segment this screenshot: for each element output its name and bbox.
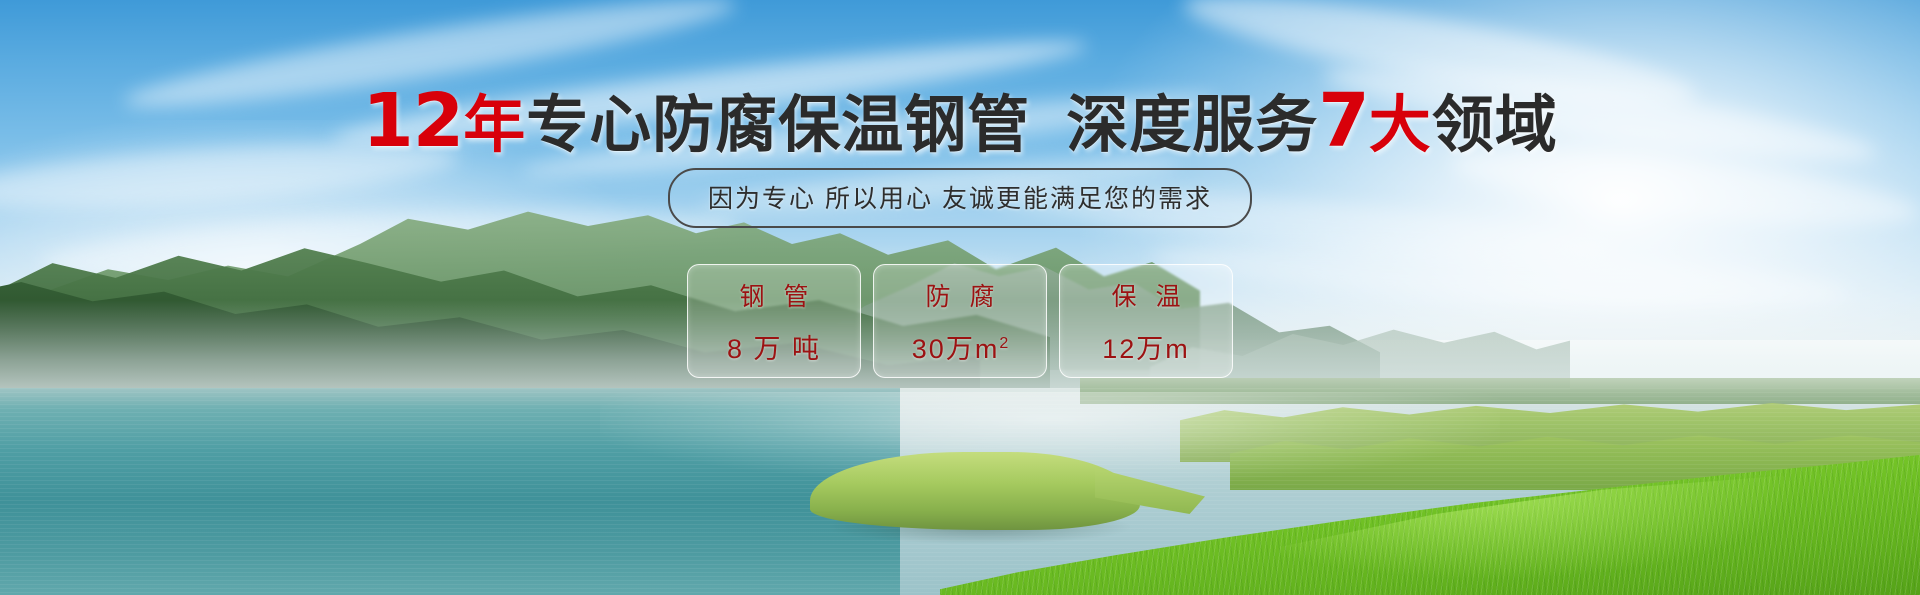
headline-years-number: 12 — [362, 78, 463, 164]
stat-card-value: 12万m — [1102, 327, 1190, 366]
stat-card-list: 钢 管 8 万 吨 防 腐 30万m2 保 温 12万m — [0, 264, 1920, 378]
stat-card-value-text: 30万m — [912, 334, 1000, 364]
promo-banner: 12年专心防腐保温钢管深度服务7大领域 因为专心 所以用心 友诚更能满足您的需求… — [0, 0, 1920, 595]
banner-content: 12年专心防腐保温钢管深度服务7大领域 因为专心 所以用心 友诚更能满足您的需求… — [0, 0, 1920, 595]
headline-service-text: 深度服务 — [1066, 91, 1318, 160]
stat-card-value-text: 8 万 吨 — [727, 334, 821, 364]
headline-fields-number: 7 — [1318, 78, 1369, 164]
stat-card-anticorrosion[interactable]: 防 腐 30万m2 — [873, 264, 1047, 378]
stat-card-value: 8 万 吨 — [727, 327, 821, 366]
banner-subtitle: 因为专心 所以用心 友诚更能满足您的需求 — [668, 168, 1252, 228]
banner-headline: 12年专心防腐保温钢管深度服务7大领域 — [0, 84, 1920, 158]
stat-card-value-exponent: 2 — [999, 335, 1008, 352]
headline-main-text: 专心防腐保温钢管 — [526, 91, 1030, 160]
headline-years-unit: 年 — [463, 91, 526, 160]
stat-card-value-text: 12万m — [1102, 334, 1190, 364]
headline-fields-unit: 大 — [1369, 91, 1432, 160]
stat-card-title: 钢 管 — [734, 277, 815, 313]
stat-card-title: 防 腐 — [920, 277, 1001, 313]
stat-card-insulation[interactable]: 保 温 12万m — [1059, 264, 1233, 378]
stat-card-title: 保 温 — [1106, 277, 1187, 313]
stat-card-value: 30万m2 — [912, 327, 1008, 366]
headline-fields-text: 领域 — [1432, 91, 1558, 160]
banner-subtitle-wrap: 因为专心 所以用心 友诚更能满足您的需求 — [0, 168, 1920, 228]
stat-card-steel-pipe[interactable]: 钢 管 8 万 吨 — [687, 264, 861, 378]
